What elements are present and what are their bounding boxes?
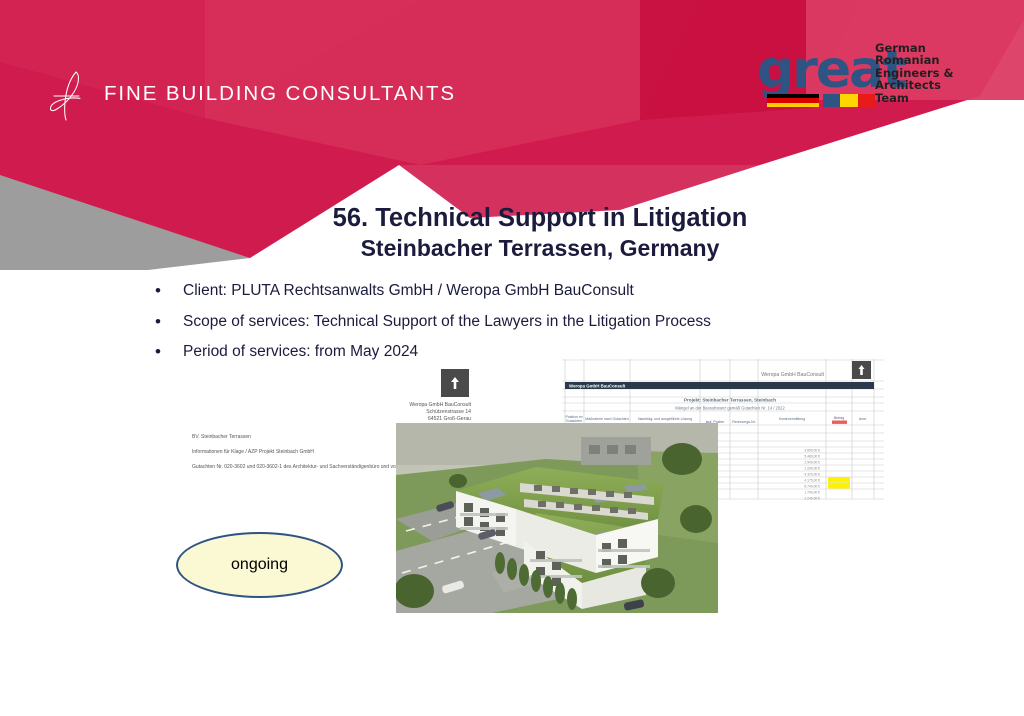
letter-address-block: Weropa GmbH BauConsult Schützenstrasse 1… — [409, 402, 471, 424]
title-block: 56. Technical Support in Litigation Stei… — [110, 203, 970, 263]
spreadsheet-header-cell: Kostenermittlung — [779, 417, 805, 421]
tagline-line-5: Team — [875, 92, 954, 104]
spreadsheet-header-cell: Nachträg- und ausgeführte Lösung — [638, 417, 692, 421]
up-arrow-mark-icon — [441, 369, 469, 397]
list-item: • Client: PLUTA Rechtsanwalts GmbH / Wer… — [155, 280, 955, 302]
svg-text:1.260,00 €: 1.260,00 € — [804, 467, 820, 471]
tagline-line-2: Romanian — [875, 54, 954, 66]
spreadsheet-header-highlight — [832, 421, 847, 424]
status-badge: ongoing — [176, 532, 343, 598]
address-line-1: Weropa GmbH BauConsult — [409, 402, 471, 409]
spreadsheet-subtitle-line: Mängel an der Bausubstanz gemäß Gutachte… — [675, 406, 785, 411]
page-title: 56. Technical Support in Litigation — [110, 203, 970, 234]
german-flag-icon — [767, 94, 819, 107]
svg-text:3.850,00 €: 3.850,00 € — [804, 449, 820, 453]
great-tagline: German Romanian Engineers & Architects T… — [875, 42, 954, 104]
fine-building-consultants-logo: FINE BUILDING CONSULTANTS — [46, 66, 396, 122]
bullet-text: Client: PLUTA Rechtsanwalts GmbH / Werop… — [183, 280, 634, 302]
address-line-2: Schützenstrasse 14 — [409, 409, 471, 416]
flag-strip — [767, 94, 875, 107]
spreadsheet-header-cell: Anm. — [859, 417, 867, 421]
svg-text:1.790,00 €: 1.790,00 € — [804, 491, 820, 495]
bullet-list: • Client: PLUTA Rechtsanwalts GmbH / Wer… — [155, 280, 955, 372]
svg-text:2.940,00 €: 2.940,00 € — [804, 461, 820, 465]
spreadsheet-highlight-cell — [828, 477, 850, 483]
spreadsheet-company-label: Weropa GmbH BauConsult — [761, 372, 824, 378]
spreadsheet-highlight-cell — [828, 483, 850, 489]
spreadsheet-header-cell: Betrag — [834, 416, 844, 420]
page-subtitle: Steinbacher Terrassen, Germany — [110, 234, 970, 263]
romanian-flag-icon — [823, 94, 875, 107]
great-partner-logo: great German Romanian Engineers & Archit… — [757, 40, 967, 116]
spreadsheet-header-cell: Maßnahme nach Gutachten — [585, 417, 628, 421]
svg-text:9.320,00 €: 9.320,00 € — [804, 473, 820, 477]
tagline-line-4: Architects — [875, 79, 954, 91]
spreadsheet-project-line: Projekt: Steinbacher Terrassen, Steinbac… — [684, 398, 776, 403]
bullet-marker-icon: • — [155, 311, 183, 333]
fbc-wordmark: FINE BUILDING CONSULTANTS — [104, 82, 456, 106]
spreadsheet-header-cell: Rechnungs-Nr. — [732, 420, 755, 424]
svg-text:6.740,00 €: 6.740,00 € — [804, 485, 820, 489]
svg-text:4.175,00 €: 4.175,00 € — [804, 479, 820, 483]
building-render-image — [396, 423, 718, 613]
svg-text:1.249,50 €: 1.249,50 € — [804, 497, 820, 501]
list-item: • Scope of services: Technical Support o… — [155, 311, 955, 333]
bullet-marker-icon: • — [155, 280, 183, 302]
spreadsheet-banner-label: Weropa GmbH BauConsult — [569, 384, 626, 389]
fbc-monogram-icon — [46, 66, 92, 122]
bullet-text: Scope of services: Technical Support of … — [183, 311, 711, 333]
svg-text:5.480,00 €: 5.480,00 € — [804, 455, 820, 459]
